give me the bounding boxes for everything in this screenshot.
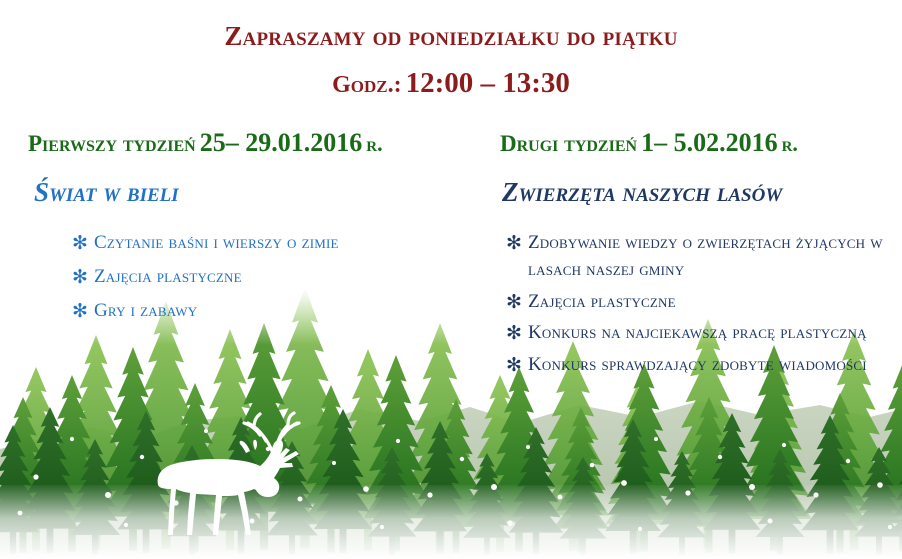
- time-label: Godz.:: [332, 72, 402, 98]
- week-date-suffix: r.: [366, 131, 382, 156]
- asterisk-bullet-icon: ✻: [506, 353, 522, 380]
- list-item: ✻ Czytanie baśni i wierszy o zimie: [68, 230, 458, 257]
- list-item: ✻ Konkurs sprawdzający zdobyte wiadomośc…: [502, 352, 895, 379]
- poster-headline: Zapraszamy od poniedziałku do piątku: [0, 22, 902, 52]
- list-item: ✻ Zdobywanie wiedzy o zwierzętach żyjący…: [502, 230, 895, 284]
- list-item-label: Zajęcia plastyczne: [528, 291, 676, 312]
- list-item-label: Konkurs sprawdzający zdobyte wiadomości: [528, 354, 867, 375]
- week-heading-second: Drugi tydzień 1– 5.02.2016 r.: [500, 128, 895, 158]
- list-item-label: Konkurs na najciekawszą pracę plastyczną: [528, 322, 867, 343]
- list-item-label: Czytanie baśni i wierszy o zimie: [94, 232, 339, 253]
- asterisk-bullet-icon: ✻: [72, 231, 88, 258]
- week-label: Pierwszy tydzień: [28, 131, 196, 156]
- week-date: 1– 5.02.2016: [641, 128, 778, 157]
- week-heading-first: Pierwszy tydzień 25– 29.01.2016 r.: [28, 128, 458, 158]
- week-column-second: Drugi tydzień 1– 5.02.2016 r. Zwierzęta …: [500, 128, 895, 384]
- list-item-label: Zdobywanie wiedzy o zwierzętach żyjących…: [528, 232, 883, 280]
- list-item: ✻ Zajęcia plastyczne: [502, 289, 895, 316]
- week-column-first: Pierwszy tydzień 25– 29.01.2016 r. Świat…: [28, 128, 458, 331]
- list-item: ✻ Zajęcia plastyczne: [68, 264, 458, 291]
- asterisk-bullet-icon: ✻: [506, 290, 522, 317]
- list-item: ✻ Konkurs na najciekawszą pracę plastycz…: [502, 320, 895, 347]
- asterisk-bullet-icon: ✻: [506, 231, 522, 258]
- activity-list-first: ✻ Czytanie baśni i wierszy o zimie ✻ Zaj…: [68, 230, 458, 325]
- list-item-label: Zajęcia plastyczne: [94, 266, 242, 287]
- activity-list-second: ✻ Zdobywanie wiedzy o zwierzętach żyjący…: [502, 230, 895, 380]
- poster-time-row: Godz.: 12:00 – 13:30: [0, 68, 902, 100]
- asterisk-bullet-icon: ✻: [72, 265, 88, 292]
- week-label: Drugi tydzień: [500, 131, 637, 156]
- week-date: 25– 29.01.2016: [200, 128, 363, 157]
- week-date-suffix: r.: [782, 131, 798, 156]
- time-value: 12:00 – 13:30: [406, 67, 570, 99]
- poster-canvas: Zapraszamy od poniedziałku do piątku God…: [0, 0, 902, 559]
- asterisk-bullet-icon: ✻: [506, 321, 522, 348]
- list-item-label: Gry i zabawy: [94, 300, 197, 321]
- list-item: ✻ Gry i zabawy: [68, 298, 458, 325]
- poster-text-layer: Zapraszamy od poniedziałku do piątku God…: [0, 0, 902, 559]
- asterisk-bullet-icon: ✻: [72, 299, 88, 326]
- week-theme-second: Zwierzęta naszych lasów: [502, 178, 895, 208]
- week-theme-first: Świat w bieli: [34, 178, 458, 208]
